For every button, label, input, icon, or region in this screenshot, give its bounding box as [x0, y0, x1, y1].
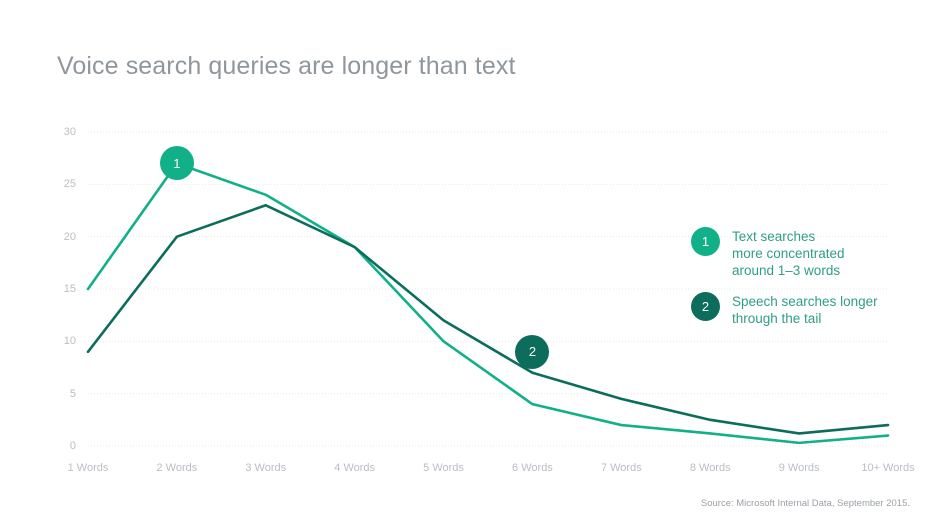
x-axis-tick-label: 2 Words: [156, 462, 197, 474]
x-axis-tick-label: 6 Words: [512, 462, 553, 474]
source-caption: Source: Microsoft Internal Data, Septemb…: [701, 498, 910, 509]
y-axis-tick-label: 5: [46, 388, 76, 400]
x-axis-tick-label: 5 Words: [423, 462, 464, 474]
x-axis-tick-label: 3 Words: [245, 462, 286, 474]
y-axis-tick-label: 25: [46, 178, 76, 190]
legend-item-text-searches: 1 Text searches more concentrated around…: [691, 227, 845, 279]
x-axis-tick-label: 9 Words: [779, 462, 820, 474]
legend-badge-1: 1: [691, 227, 720, 256]
legend-item-speech-searches: 2 Speech searches longer through the tai…: [691, 292, 878, 327]
y-axis-tick-label: 30: [46, 126, 76, 138]
legend-label-2: Speech searches longer through the tail: [732, 292, 878, 327]
y-axis-tick-label: 0: [46, 440, 76, 452]
x-axis-tick-label: 10+ Words: [861, 462, 914, 474]
callout-marker-1: 1: [160, 146, 194, 180]
y-axis-tick-label: 10: [46, 335, 76, 347]
legend-label-1: Text searches more concentrated around 1…: [732, 227, 845, 279]
y-axis-tick-label: 15: [46, 283, 76, 295]
slide-canvas: Voice search queries are longer than tex…: [0, 0, 936, 530]
x-axis-tick-label: 1 Words: [68, 462, 109, 474]
legend-badge-2: 2: [691, 292, 720, 321]
x-axis-tick-label: 8 Words: [690, 462, 731, 474]
callout-marker-2: 2: [515, 335, 549, 369]
gridlines-group: [88, 132, 888, 446]
x-axis-tick-label: 4 Words: [334, 462, 375, 474]
y-axis-tick-label: 20: [46, 231, 76, 243]
x-axis-tick-label: 7 Words: [601, 462, 642, 474]
